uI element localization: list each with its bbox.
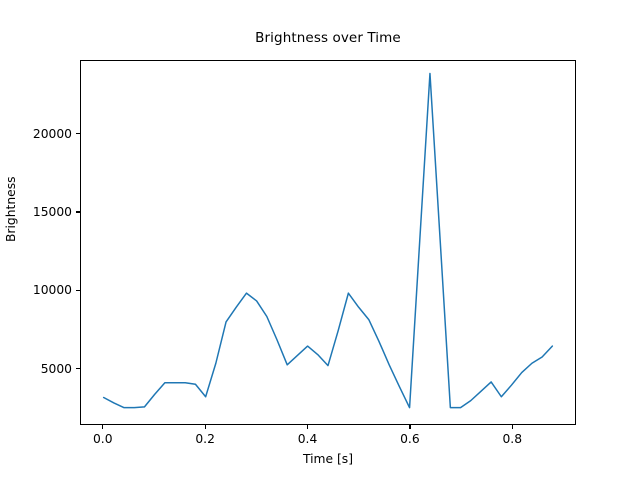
y-tick-label: 10000 [12, 283, 72, 297]
x-tick-label: 0.4 [278, 432, 338, 446]
line-series-svg [81, 61, 575, 424]
x-tick-mark [102, 425, 103, 429]
x-tick-mark [307, 425, 308, 429]
y-axis-label: Brightness [4, 176, 18, 242]
x-tick-label: 0.6 [380, 432, 440, 446]
x-tick-label: 0.0 [73, 432, 133, 446]
x-tick-mark [409, 425, 410, 429]
x-tick-label: 0.2 [175, 432, 235, 446]
x-axis-label: Time [s] [80, 452, 576, 466]
x-tick-mark [205, 425, 206, 429]
x-tick-mark [512, 425, 513, 429]
y-tick-label: 5000 [12, 362, 72, 376]
y-tick-label: 15000 [12, 205, 72, 219]
brightness-line-series [104, 73, 553, 407]
matplotlib-figure: Brightness over Time Brightness 50001000… [0, 0, 640, 480]
y-tick-label: 20000 [12, 127, 72, 141]
chart-title: Brightness over Time [80, 30, 576, 46]
x-tick-label: 0.8 [482, 432, 542, 446]
plot-area [80, 60, 576, 425]
